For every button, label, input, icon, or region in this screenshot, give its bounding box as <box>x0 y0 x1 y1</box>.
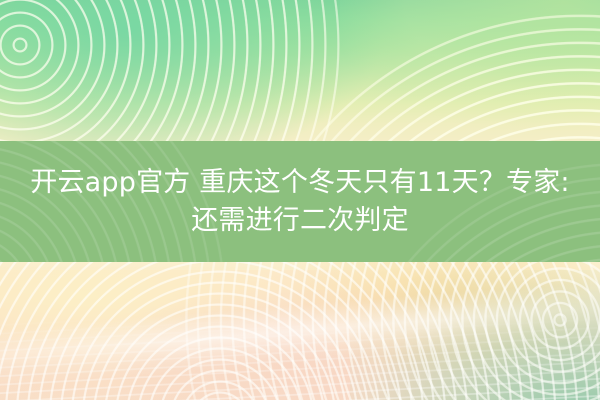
promo-banner: 开云app官方 重庆这个冬天只有11天？专家: 还需进行二次判定 <box>0 0 600 400</box>
headline-text: 开云app官方 重庆这个冬天只有11天？专家: 还需进行二次判定 <box>20 164 580 240</box>
headline-line-2: 还需进行二次判定 <box>20 202 580 240</box>
top-gradient-region <box>0 0 600 141</box>
bottom-gradient-region <box>0 262 600 400</box>
ripple-texture-decoration <box>0 314 600 400</box>
headline-green-band: 开云app官方 重庆这个冬天只有11天？专家: 还需进行二次判定 <box>0 141 600 262</box>
headline-line-1: 开云app官方 重庆这个冬天只有11天？专家: <box>20 164 580 202</box>
